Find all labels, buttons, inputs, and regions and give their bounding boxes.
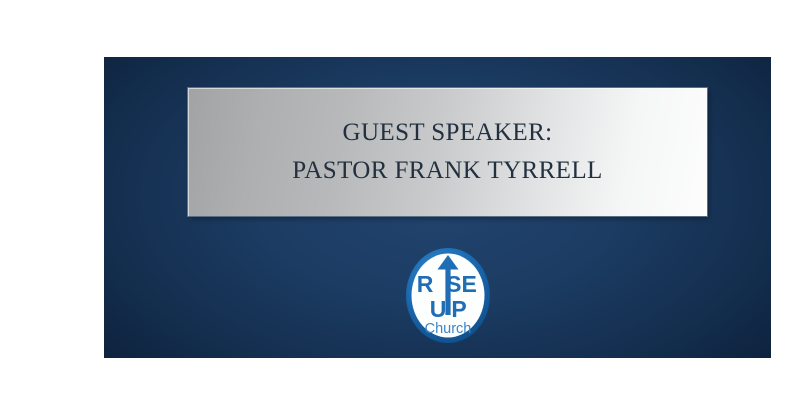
title-plate: GUEST SPEAKER: PASTOR FRANK TYRRELL [188,88,707,216]
logo-letters-se: SE [446,271,477,297]
logo-tagline: Church [425,321,472,337]
logo-letter-u: U [430,296,447,322]
title-line-2: PASTOR FRANK TYRRELL [292,152,602,190]
title-line-1: GUEST SPEAKER: [342,114,552,152]
rise-up-church-logo: R SE U P Church [405,247,491,344]
logo-letter-r: R [417,271,434,297]
slide-canvas: GUEST SPEAKER: PASTOR FRANK TYRRELL [0,0,800,418]
presentation-slide: GUEST SPEAKER: PASTOR FRANK TYRRELL [104,57,771,358]
logo-svg: R SE U P Church [405,247,491,344]
logo-letter-p: P [451,296,466,322]
